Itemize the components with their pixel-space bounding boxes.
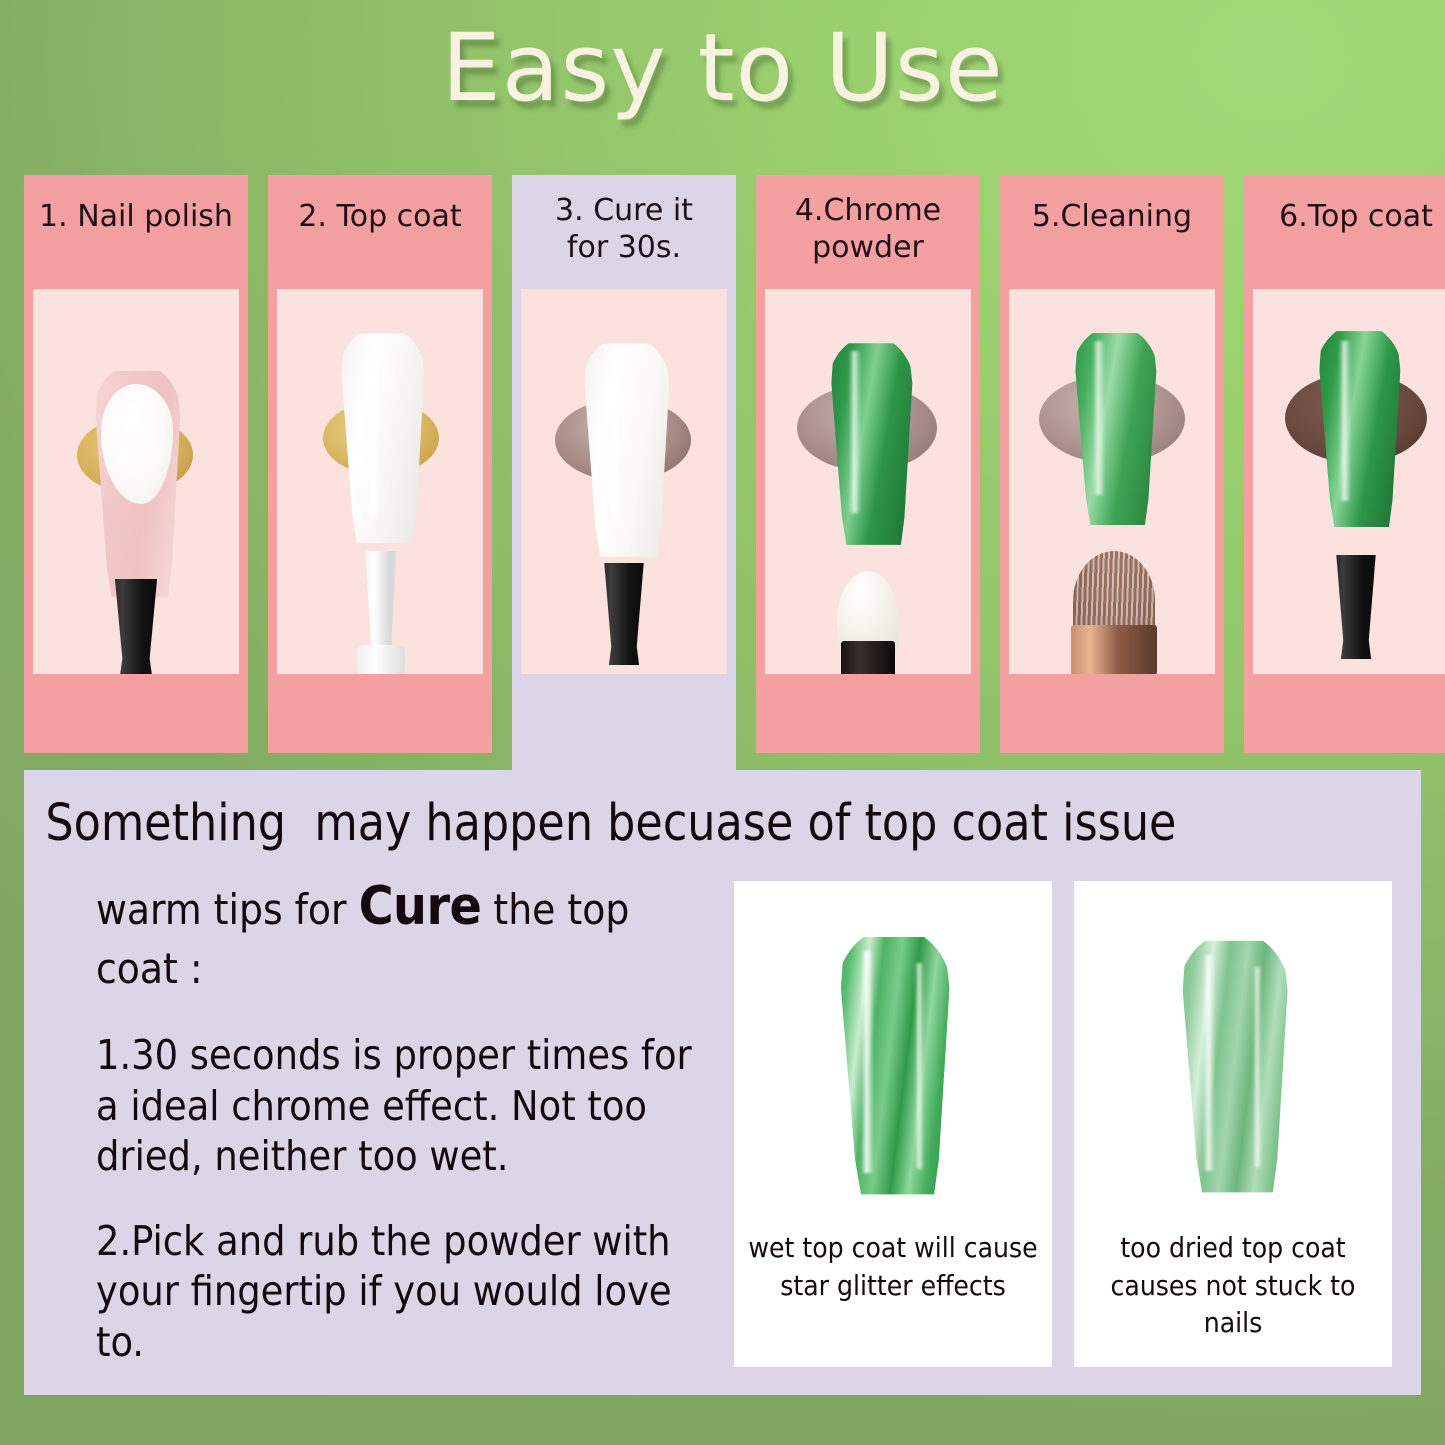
tips-column: warm tips for Cure the top coat : 1.30 s… bbox=[24, 873, 714, 1367]
step-photo-2 bbox=[277, 289, 483, 674]
infographic-poster: Easy to Use 1. Nail polish 2. Top coat bbox=[0, 0, 1445, 1445]
polish-brush-handle-6 bbox=[1327, 555, 1385, 659]
step-label-1: 1. Nail polish bbox=[33, 185, 239, 289]
comparison-card-wet: wet top coat will cause star glitter eff… bbox=[734, 881, 1052, 1367]
comparison-card-dried: too dried top coat causes not stuck to n… bbox=[1074, 881, 1392, 1367]
nail-gloss-wet-a bbox=[861, 951, 874, 1173]
nail-tip-3 bbox=[580, 337, 672, 559]
nail-gloss-dried-a bbox=[1203, 955, 1215, 1171]
step-photo-3 bbox=[521, 289, 727, 674]
brush-cap-2 bbox=[357, 645, 405, 674]
steps-row: 1. Nail polish 2. Top coat bbox=[24, 175, 1421, 753]
step-photo-4 bbox=[765, 289, 971, 674]
tip-item-2: 2.Pick and rub the powder with your fing… bbox=[96, 1216, 714, 1367]
polish-brush-handle-3 bbox=[595, 563, 653, 665]
panel-heading: Something may happen becuase of top coat… bbox=[24, 770, 1379, 849]
nail-tip-dried bbox=[1177, 933, 1291, 1195]
step-card-1: 1. Nail polish bbox=[24, 175, 248, 753]
nail-tip-6 bbox=[1315, 325, 1403, 529]
step-label-5: 5.Cleaning bbox=[1009, 185, 1215, 289]
comparison-photo-wet bbox=[743, 893, 1043, 1223]
tips-heading-emphasis: Cure bbox=[359, 876, 482, 937]
tips-heading-prefix: warm tips for bbox=[96, 885, 359, 934]
step-label-6: 6.Top coat bbox=[1253, 185, 1445, 289]
step-photo-6 bbox=[1253, 289, 1445, 674]
tips-panel: Something may happen becuase of top coat… bbox=[24, 770, 1421, 1395]
nail-gloss-wet-b bbox=[915, 963, 924, 1169]
nail-gloss-6 bbox=[1339, 341, 1351, 501]
comparison-caption-wet: wet top coat will cause star glitter eff… bbox=[742, 1223, 1044, 1304]
tip-item-1: 1.30 seconds is proper times for a ideal… bbox=[96, 1030, 714, 1181]
nail-gloss-dried-b bbox=[1253, 967, 1262, 1167]
step-card-4: 4.Chrome powder bbox=[756, 175, 980, 753]
step-label-2: 2. Top coat bbox=[277, 185, 483, 289]
nail-gloss-2 bbox=[365, 349, 381, 519]
fluffy-brush-ferrule-5 bbox=[1071, 625, 1157, 674]
page-title: Easy to Use bbox=[441, 18, 1003, 120]
comparison-group: wet top coat will cause star glitter eff… bbox=[734, 873, 1392, 1367]
step-card-3: 3. Cure it for 30s. bbox=[512, 175, 736, 789]
step-label-3: 3. Cure it for 30s. bbox=[521, 185, 727, 289]
sponge-stick-4 bbox=[841, 641, 895, 674]
nail-tip-wet bbox=[835, 929, 953, 1197]
step-photo-1 bbox=[33, 289, 239, 674]
step-photo-5 bbox=[1009, 289, 1215, 674]
step-card-6: 6.Top coat bbox=[1244, 175, 1445, 753]
nail-gloss-4 bbox=[849, 351, 861, 513]
step-card-2: 2. Top coat bbox=[268, 175, 492, 753]
step-label-4: 4.Chrome powder bbox=[765, 185, 971, 289]
tips-heading: warm tips for Cure the top coat : bbox=[96, 873, 714, 996]
step-card-5: 5.Cleaning bbox=[1000, 175, 1224, 753]
nail-gloss-3 bbox=[607, 355, 621, 521]
nail-gloss-5 bbox=[1093, 341, 1105, 495]
title-area: Easy to Use bbox=[0, 18, 1445, 120]
nail-tip-4 bbox=[827, 337, 915, 547]
nail-tip-2 bbox=[337, 327, 427, 545]
nail-tip-5 bbox=[1071, 327, 1159, 527]
comparison-caption-dried: too dried top coat causes not stuck to n… bbox=[1082, 1223, 1384, 1342]
panel-body: warm tips for Cure the top coat : 1.30 s… bbox=[24, 849, 1421, 1367]
comparison-photo-dried bbox=[1083, 893, 1383, 1223]
